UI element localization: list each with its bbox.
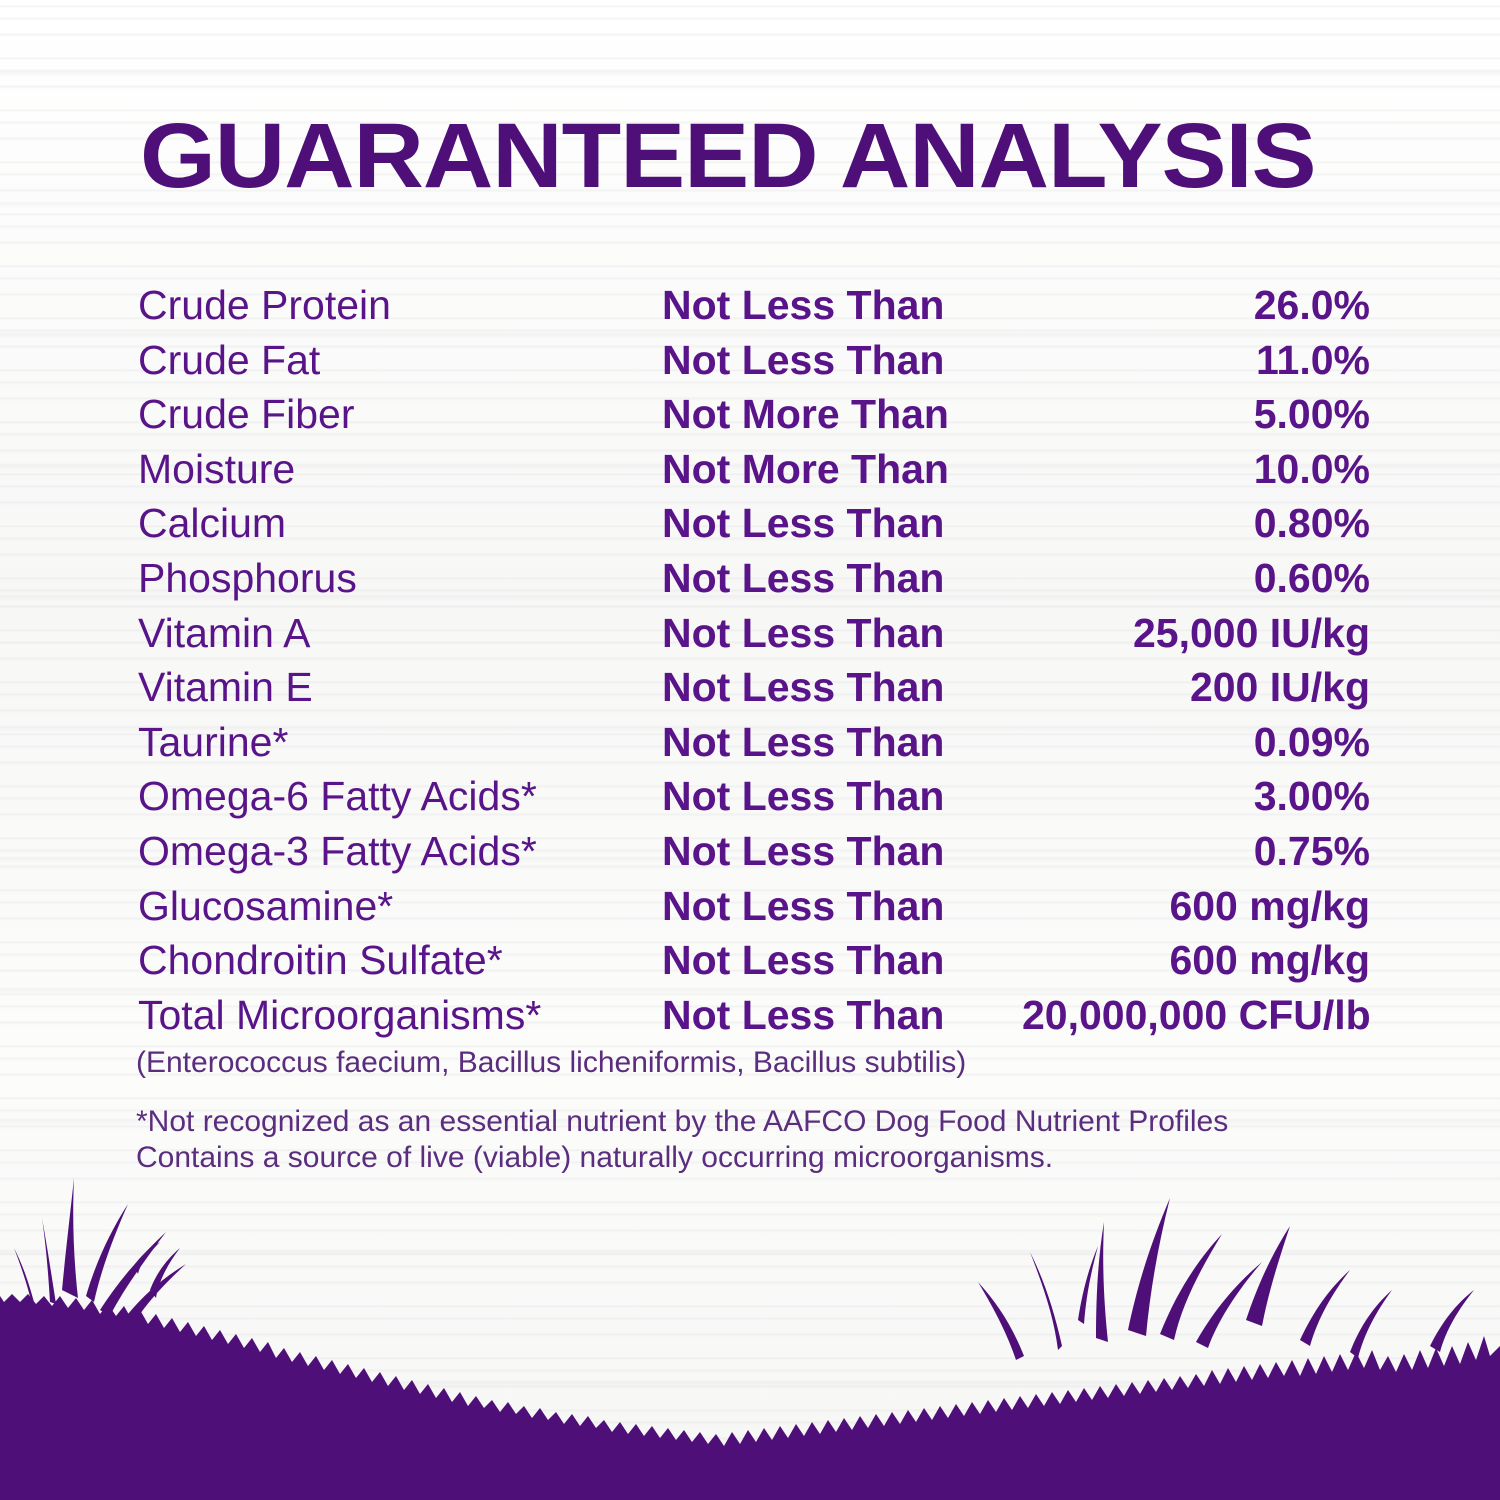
nutrient-name: Omega-3 Fatty Acids* [138,824,662,879]
page-title: GUARANTEED ANALYSIS [140,108,1444,204]
nutrient-value: 20,000,000 CFU/lb [1022,988,1371,1043]
nutrient-qualifier: Not More Than [662,387,1022,442]
nutrient-name: Crude Protein [138,278,662,333]
nutrient-qualifier: Not Less Than [662,715,1022,770]
table-row: Taurine*Not Less Than0.09% [138,715,1370,770]
nutrient-qualifier: Not Less Than [662,988,1022,1043]
nutrient-qualifier: Not Less Than [662,278,1022,333]
nutrient-qualifier: Not Less Than [662,606,1022,661]
table-row: Omega-6 Fatty Acids*Not Less Than3.00% [138,769,1370,824]
nutrient-name: Vitamin E [138,660,662,715]
table-row: Omega-3 Fatty Acids*Not Less Than0.75% [138,824,1370,879]
nutrient-value: 600 mg/kg [1022,933,1370,988]
nutrient-name: Omega-6 Fatty Acids* [138,769,662,824]
nutrient-value: 600 mg/kg [1022,879,1370,934]
table-row: Vitamin ANot Less Than25,000 IU/kg [138,606,1370,661]
table-row: Chondroitin Sulfate*Not Less Than600 mg/… [138,933,1370,988]
aafco-disclaimer: *Not recognized as an essential nutrient… [136,1104,1386,1140]
nutrient-qualifier: Not Less Than [662,660,1022,715]
nutrient-value: 25,000 IU/kg [1022,606,1370,661]
disclaimer-block: *Not recognized as an essential nutrient… [136,1104,1386,1176]
nutrient-value: 200 IU/kg [1022,660,1370,715]
nutrient-value: 10.0% [1022,442,1370,497]
nutrient-qualifier: Not Less Than [662,879,1022,934]
nutrient-value: 5.00% [1022,387,1370,442]
table-row: CalciumNot Less Than0.80% [138,496,1370,551]
nutrient-qualifier: Not Less Than [662,496,1022,551]
nutrient-value: 0.60% [1022,551,1370,606]
nutrient-name: Crude Fat [138,333,662,388]
footnotes: (Enterococcus faecium, Bacillus lichenif… [136,1044,1386,1176]
grass-silhouette-decoration [0,1170,1500,1500]
nutrient-name: Vitamin A [138,606,662,661]
nutrient-name: Calcium [138,496,662,551]
nutrient-name: Total Microorganisms* [138,988,662,1043]
nutrient-qualifier: Not Less Than [662,551,1022,606]
nutrient-value: 0.75% [1022,824,1370,879]
nutrient-qualifier: Not Less Than [662,824,1022,879]
microorganism-species-note: (Enterococcus faecium, Bacillus lichenif… [136,1044,1386,1082]
table-row: MoistureNot More Than10.0% [138,442,1370,497]
guaranteed-analysis-table: Crude ProteinNot Less Than26.0%Crude Fat… [138,278,1370,1042]
nutrient-qualifier: Not Less Than [662,933,1022,988]
table-row: Crude FatNot Less Than11.0% [138,333,1370,388]
table-row: PhosphorusNot Less Than0.60% [138,551,1370,606]
nutrient-name: Moisture [138,442,662,497]
nutrient-value: 3.00% [1022,769,1370,824]
nutrient-name: Chondroitin Sulfate* [138,933,662,988]
table-row: Glucosamine*Not Less Than600 mg/kg [138,879,1370,934]
table-row: Vitamin ENot Less Than200 IU/kg [138,660,1370,715]
nutrient-name: Glucosamine* [138,879,662,934]
nutrient-value: 0.09% [1022,715,1370,770]
nutrient-qualifier: Not Less Than [662,333,1022,388]
nutrient-qualifier: Not Less Than [662,769,1022,824]
nutrient-name: Crude Fiber [138,387,662,442]
nutrient-value: 26.0% [1022,278,1370,333]
nutrient-value: 11.0% [1022,333,1370,388]
nutrient-value: 0.80% [1022,496,1370,551]
table-row: Crude FiberNot More Than5.00% [138,387,1370,442]
table-row: Total Microorganisms*Not Less Than20,000… [138,988,1370,1043]
guaranteed-analysis-panel: GUARANTEED ANALYSIS Crude ProteinNot Les… [0,0,1500,1500]
table-row: Crude ProteinNot Less Than26.0% [138,278,1370,333]
nutrient-name: Taurine* [138,715,662,770]
nutrient-qualifier: Not More Than [662,442,1022,497]
nutrient-name: Phosphorus [138,551,662,606]
